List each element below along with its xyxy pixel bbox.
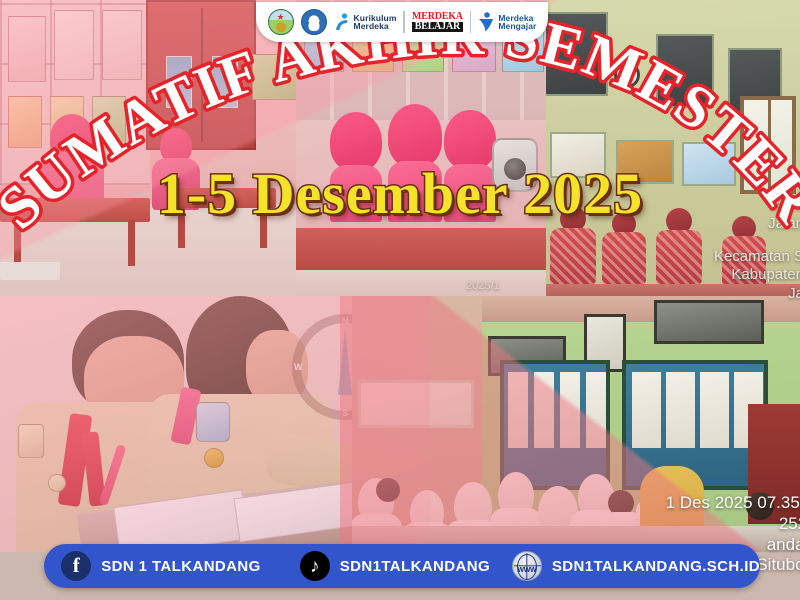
student-desk (296, 228, 550, 272)
door-notice (700, 372, 729, 448)
website-url-label: SDN1TALKANDANG.SCH.ID (552, 558, 760, 575)
student-batik (550, 228, 596, 284)
art-sheet (92, 96, 126, 148)
art-sheet (8, 16, 46, 82)
blackboard (546, 12, 608, 96)
poster-canvas: N E S W (0, 0, 800, 600)
scout-badge (204, 448, 224, 468)
social-item-tiktok[interactable]: ♪ SDN1TALKANDANG (278, 551, 512, 581)
art-sheet (54, 10, 94, 80)
cupboard-poster (166, 56, 192, 108)
classroom-door (622, 360, 768, 490)
door-notice (560, 372, 580, 448)
blackboard (656, 34, 714, 108)
classroom-cupboard (146, 0, 256, 150)
compass-south-label: S (342, 408, 348, 418)
school-desk (0, 262, 60, 280)
header-logo-bar: Kurikulum Merdeka MERDEKA BELAJAR Merdek… (256, 2, 548, 42)
logo-divider (470, 11, 472, 33)
photo-timestamp-watermark: 2025/1 (466, 280, 500, 292)
group-photo-frame (654, 300, 764, 344)
photo-students-pink-uniform (296, 0, 550, 300)
compass-needle (338, 329, 352, 395)
cupboard-poster (212, 56, 238, 108)
kurikulum-merdeka-text: Kurikulum Merdeka (354, 14, 397, 31)
kurikulum-merdeka-logo: Kurikulum Merdeka (334, 13, 397, 31)
social-item-website[interactable]: WWW SDN1TALKANDANG.SCH.ID (512, 551, 760, 581)
wall-map (252, 54, 300, 100)
tut-wuri-handayani-icon (301, 9, 327, 35)
student-head (376, 478, 400, 502)
window (358, 380, 474, 428)
merdeka-mengajar-logo: Merdeka Mengajar (478, 12, 536, 32)
door-notice (508, 372, 528, 448)
tiktok-handle-label: SDN1TALKANDANG (340, 558, 490, 575)
art-sheet (8, 96, 42, 148)
door-notice (586, 372, 606, 448)
photo-scouts-writing: N E S W (0, 296, 400, 552)
logo-divider (403, 11, 405, 33)
photo-classroom-pink-artwork (0, 0, 300, 300)
scout-badge (48, 474, 66, 492)
scout-badge (196, 402, 230, 442)
door-notice (534, 372, 554, 448)
tiktok-icon[interactable]: ♪ (300, 551, 330, 581)
compass-north-label: N (342, 316, 349, 326)
facebook-icon[interactable]: f (61, 551, 91, 581)
art-sheet (102, 10, 142, 80)
kurikulum-merdeka-swoosh-icon (334, 13, 350, 31)
social-media-bar: f SDN 1 TALKANDANG ♪ SDN1TALKANDANG WWW … (44, 544, 760, 588)
merdeka-mengajar-text: Merdeka Mengajar (498, 14, 536, 31)
social-item-facebook[interactable]: f SDN 1 TALKANDANG (44, 551, 278, 581)
merdeka-belajar-logo: MERDEKA BELAJAR (412, 12, 463, 32)
poster-date-text: 1-5 Desember 2025 (0, 160, 800, 227)
merdeka-mengajar-swoosh-icon (478, 12, 494, 32)
compass-west-label: W (294, 362, 303, 372)
wall-clock (614, 62, 640, 88)
classroom-door (500, 360, 610, 490)
facebook-handle-label: SDN 1 TALKANDANG (101, 558, 260, 575)
door-notice (666, 372, 695, 448)
student-head (388, 104, 442, 168)
door-notice (632, 372, 661, 448)
student-batik (656, 230, 702, 284)
website-globe-icon[interactable]: WWW (512, 551, 542, 581)
scout-badge (18, 424, 44, 458)
regency-emblem-icon (268, 9, 294, 35)
student-batik (602, 232, 646, 284)
